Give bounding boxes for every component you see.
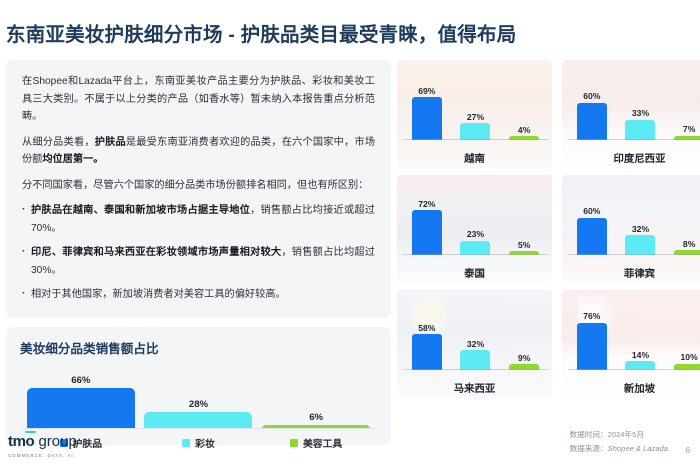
country-label-vietnam: 越南 — [397, 150, 552, 165]
country-chart-plot-thailand: 72%23%5% — [405, 185, 546, 255]
bar-skincare — [577, 103, 607, 140]
country-chart-plot-malaysia: 58%32%9% — [405, 300, 546, 370]
paragraph-2-bold-b: 均位居第一。 — [42, 154, 103, 165]
bar-value-skincare: 76% — [583, 311, 600, 321]
bar-group-skincare: 72% — [405, 185, 449, 255]
bar-makeup — [625, 235, 655, 255]
bullet-2-bold: 印尼、菲律宾和马来西亚在彩妆领域市场声量相对较大 — [31, 247, 281, 258]
bar-tools — [509, 251, 539, 255]
left-column: 在Shopee和Lazada平台上，东南亚美妆产品主要分为护肤品、彩妆和美妆工具… — [6, 60, 391, 445]
country-card-vietnam: 69%27%4%越南 — [397, 60, 552, 168]
bar-value-tools: 4% — [518, 125, 530, 135]
bar-value-makeup: 14% — [632, 350, 649, 360]
logo-name: tmo — [8, 433, 34, 450]
country-card-malaysia: 58%32%9%马来西亚 — [397, 290, 552, 398]
bar-value-makeup: 32% — [632, 224, 649, 234]
bar-group-tools: 4% — [502, 70, 546, 140]
bullet-1-bold: 护肤品在越南、泰国和新加坡市场占据主导地位 — [31, 205, 250, 216]
bar-makeup — [460, 241, 490, 255]
bar-value-tools: 9% — [518, 353, 530, 363]
page-title: 东南亚美妆护肤细分市场 - 护肤品类目最受青睐，值得布局 — [6, 18, 516, 47]
country-card-thailand: 72%23%5%泰国 — [397, 175, 552, 283]
legend-label-tools: 美容工具 — [303, 436, 342, 450]
bar-value-skincare: 66% — [71, 375, 90, 386]
bar-value-makeup: 27% — [467, 112, 484, 122]
footer-source-value: Shopee & Lazada — [608, 444, 668, 453]
list-item: 护肤品在越南、泰国和新加坡市场占据主导地位，销售额占比均接近或超过70%。 — [22, 202, 375, 237]
bar-skincare — [577, 218, 607, 255]
commentary-panel: 在Shopee和Lazada平台上，东南亚美妆产品主要分为护肤品、彩妆和美妆工具… — [6, 60, 391, 318]
footer-source-label: 数据来源： — [570, 444, 608, 453]
logo-tagline: COMMERCE. DATA. AI. — [8, 453, 77, 458]
overall-chart-plot: 66% 28% 6% — [22, 363, 375, 429]
bar-makeup — [625, 361, 655, 370]
bar-skincare — [577, 323, 607, 370]
footer-date-label: 数据时间： — [570, 430, 608, 439]
list-item: 印尼、菲律宾和马来西亚在彩妆领域市场声量相对较大，销售额占比均超过30%。 — [22, 244, 375, 279]
page-number: 6 — [685, 445, 690, 455]
bar-group-makeup: 23% — [454, 185, 498, 255]
bar-tools — [509, 364, 539, 370]
bar-group-skincare: 76% — [570, 300, 614, 370]
legend-label-skincare: 护肤品 — [73, 436, 102, 450]
bar-tools — [262, 425, 370, 429]
bar-value-makeup: 28% — [189, 399, 208, 410]
bar-value-tools: 7% — [683, 124, 695, 134]
bar-makeup — [460, 350, 490, 370]
chart-title-overall: 美妆细分品类销售额占比 — [20, 338, 377, 357]
bar-group-skincare: 58% — [405, 300, 449, 370]
bar-value-tools: 8% — [683, 239, 695, 249]
bar-tools — [674, 250, 700, 255]
bullet-list: 护肤品在越南、泰国和新加坡市场占据主导地位，销售额占比均接近或超过70%。 印尼… — [22, 202, 375, 304]
footer-meta: 数据时间：2024年5月 数据来源：Shopee & Lazada — [570, 428, 668, 456]
bar-group-makeup: 32% — [454, 300, 498, 370]
bar-value-skincare: 60% — [583, 206, 600, 216]
bar-group-makeup: 32% — [619, 185, 663, 255]
paragraph-2-bold-a: 护肤品 — [95, 137, 126, 148]
bar-group-skincare: 60% — [570, 70, 614, 140]
bullet-3-rest: 相对于其他国家，新加坡消费者对美容工具的偏好较高。 — [31, 289, 286, 300]
country-card-indonesia: 60%33%7%印度尼西亚 — [562, 60, 700, 168]
bar-value-tools: 10% — [681, 352, 698, 362]
footer-source: 数据来源：Shopee & Lazada — [570, 442, 668, 456]
paragraph-3: 分不同国家看，尽管六个国家的细分品类市场份额排名相同，但也有所区别： — [22, 177, 375, 195]
country-chart-plot-vietnam: 69%27%4% — [405, 70, 546, 140]
paragraph-1: 在Shopee和Lazada平台上，东南亚美妆产品主要分为护肤品、彩妆和美妆工具… — [22, 73, 375, 126]
bar-group-tools: 9% — [502, 300, 546, 370]
logo-suffix: group — [34, 433, 77, 450]
tmo-group-logo: tmo group COMMERCE. DATA. AI. — [8, 433, 77, 459]
list-item: 相对于其他国家，新加坡消费者对美容工具的偏好较高。 — [22, 286, 375, 304]
legend-swatch-tools — [290, 439, 298, 447]
bar-group-tools: 6% — [257, 363, 375, 429]
bar-skincare — [412, 334, 442, 370]
bar-makeup — [460, 123, 490, 140]
country-card-philippines: 60%32%8%菲律宾 — [562, 175, 700, 283]
bar-value-makeup: 33% — [632, 108, 649, 118]
bar-value-skincare: 69% — [418, 86, 435, 96]
legend-label-makeup: 彩妆 — [195, 436, 215, 450]
legend-swatch-makeup — [182, 439, 190, 447]
country-label-thailand: 泰国 — [397, 265, 552, 280]
bar-group-tools: 5% — [502, 185, 546, 255]
logo-wordmark: tmo group — [8, 434, 77, 449]
bar-group-skincare: 66% — [22, 363, 140, 429]
bar-value-makeup: 23% — [467, 229, 484, 239]
country-card-singapore: 76%14%10%新加坡 — [562, 290, 700, 398]
country-chart-grid: 69%27%4%越南60%33%7%印度尼西亚72%23%5%泰国60%32%8… — [397, 60, 700, 405]
bar-value-tools: 6% — [309, 412, 323, 423]
bar-group-makeup: 14% — [619, 300, 663, 370]
bar-group-skincare: 60% — [570, 185, 614, 255]
country-label-indonesia: 印度尼西亚 — [562, 150, 700, 165]
paragraph-2: 从细分品类看，护肤品是最受东南亚消费者欢迎的品类，在六个国家中，市场份额均位居第… — [22, 134, 375, 169]
bar-tools — [674, 364, 700, 370]
bar-value-tools: 5% — [518, 240, 530, 250]
country-chart-plot-philippines: 60%32%8% — [570, 185, 700, 255]
country-label-singapore: 新加坡 — [562, 380, 700, 395]
country-chart-plot-singapore: 76%14%10% — [570, 300, 700, 370]
bar-skincare — [412, 97, 442, 140]
legend-item-tools: 美容工具 — [257, 436, 375, 450]
bar-group-makeup: 27% — [454, 70, 498, 140]
footer-date: 数据时间：2024年5月 — [570, 428, 668, 442]
slide-root: 东南亚美妆护肤细分市场 - 护肤品类目最受青睐，值得布局 在Shopee和Laz… — [0, 0, 700, 470]
bar-group-makeup: 28% — [140, 363, 258, 429]
bar-value-skincare: 58% — [418, 323, 435, 333]
bar-group-tools: 7% — [667, 70, 700, 140]
bar-makeup — [144, 412, 252, 429]
bar-value-skincare: 60% — [583, 91, 600, 101]
bar-group-makeup: 33% — [619, 70, 663, 140]
bar-skincare — [412, 210, 442, 255]
bar-group-tools: 8% — [667, 185, 700, 255]
bar-value-makeup: 32% — [467, 339, 484, 349]
overall-chart-panel: 美妆细分品类销售额占比 66% 28% 6% 护肤品 — [6, 327, 391, 445]
country-label-malaysia: 马来西亚 — [397, 380, 552, 395]
footer-date-value: 2024年5月 — [608, 430, 644, 439]
legend-item-makeup: 彩妆 — [140, 436, 258, 450]
country-label-philippines: 菲律宾 — [562, 265, 700, 280]
logo-accent-bar — [25, 431, 36, 433]
bar-tools — [674, 136, 700, 140]
bar-makeup — [625, 120, 655, 140]
bar-value-skincare: 72% — [418, 199, 435, 209]
bar-skincare — [27, 388, 135, 429]
bar-group-tools: 10% — [667, 300, 700, 370]
bar-group-skincare: 69% — [405, 70, 449, 140]
bar-tools — [509, 136, 539, 140]
country-chart-plot-indonesia: 60%33%7% — [570, 70, 700, 140]
